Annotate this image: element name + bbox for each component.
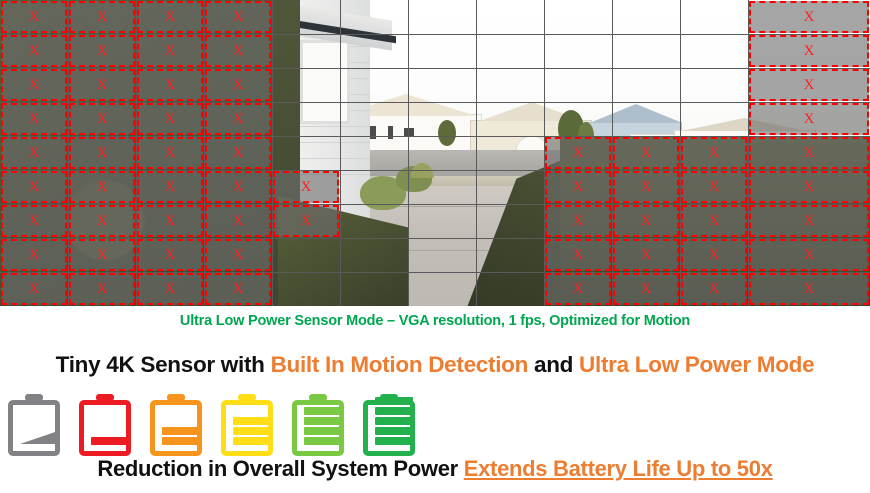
motion-detect-cell: X: [205, 239, 271, 271]
motion-detect-cell: X: [749, 273, 869, 305]
bottom-part-2-highlight: Extends Battery Life Up to 50x: [464, 456, 773, 481]
battery-empty-icon: [8, 394, 60, 456]
motion-detect-cell: X: [69, 171, 135, 203]
motion-detect-cell: X: [137, 35, 203, 67]
motion-detect-cell: X: [545, 273, 611, 305]
motion-detect-cell: X: [273, 171, 339, 203]
motion-detect-cell: X: [137, 239, 203, 271]
headline: Tiny 4K Sensor with Built In Motion Dete…: [0, 352, 870, 378]
battery-level-bar: [304, 427, 342, 435]
motion-detect-cell: X: [749, 137, 869, 169]
battery-medium-icon: [221, 394, 273, 456]
motion-detect-cell: X: [613, 239, 679, 271]
motion-detect-cell: X: [545, 171, 611, 203]
motion-detect-cell: X: [1, 1, 67, 33]
sensor-mode-caption: Ultra Low Power Sensor Mode – VGA resolu…: [0, 313, 870, 329]
motion-detect-cell: X: [69, 273, 135, 305]
motion-detect-cell: X: [749, 103, 869, 135]
battery-full-icon: [363, 394, 415, 456]
motion-detect-cell: X: [273, 205, 339, 237]
battery-level-bar: [162, 437, 200, 445]
battery-body: [221, 400, 273, 456]
motion-detect-cell: X: [613, 137, 679, 169]
motion-detect-cell: X: [1, 171, 67, 203]
motion-detect-cell: X: [205, 273, 271, 305]
motion-detect-cell: X: [681, 205, 747, 237]
battery-body: [292, 400, 344, 456]
motion-detect-cell: X: [749, 69, 869, 101]
battery-critical-icon: [79, 394, 131, 456]
battery-level-bar: [375, 437, 413, 445]
bottom-part-1: Reduction in Overall System Power: [97, 456, 463, 481]
battery-level-bar: [304, 407, 342, 415]
motion-detect-cell: X: [545, 239, 611, 271]
battery-level-bar: [304, 417, 342, 425]
bottom-caption: Reduction in Overall System Power Extend…: [0, 456, 870, 482]
grid-line-vertical: [476, 0, 477, 306]
motion-detect-cell: X: [137, 205, 203, 237]
battery-level-bar: [375, 397, 413, 405]
motion-detect-cell: X: [1, 103, 67, 135]
battery-empty-wedge: [20, 431, 58, 444]
motion-detect-cell: X: [69, 35, 135, 67]
motion-detect-cell: X: [137, 171, 203, 203]
motion-detect-cell: X: [137, 103, 203, 135]
motion-detect-cell: X: [1, 137, 67, 169]
headline-part-2-highlight: Built In Motion Detection: [271, 352, 528, 377]
motion-detect-cell: X: [681, 239, 747, 271]
camera-scene: XXXXXXXXXXXXXXXXXXXXXXXXXXXXXXXXXXXXXXXX…: [0, 0, 870, 306]
motion-grid-overlay: XXXXXXXXXXXXXXXXXXXXXXXXXXXXXXXXXXXXXXXX…: [0, 0, 870, 306]
battery-row: [8, 394, 428, 456]
motion-detect-cell: X: [205, 1, 271, 33]
battery-level-bar: [375, 417, 413, 425]
motion-detect-cell: X: [205, 137, 271, 169]
battery-level-bar: [233, 417, 271, 425]
headline-part-4-highlight: Ultra Low Power Mode: [579, 352, 814, 377]
battery-body: [363, 400, 415, 456]
battery-level-bar: [233, 437, 271, 445]
motion-detect-cell: X: [1, 35, 67, 67]
motion-detect-cell: X: [69, 137, 135, 169]
grid-line-vertical: [340, 0, 341, 306]
motion-detect-cell: X: [1, 273, 67, 305]
battery-level-bar: [375, 427, 413, 435]
motion-detect-cell: X: [137, 273, 203, 305]
motion-detect-cell: X: [749, 239, 869, 271]
motion-detect-cell: X: [545, 205, 611, 237]
motion-detect-cell: X: [69, 103, 135, 135]
motion-detect-cell: X: [69, 205, 135, 237]
motion-detect-cell: X: [749, 35, 869, 67]
grid-line-vertical: [408, 0, 409, 306]
battery-level-bar: [91, 437, 129, 445]
motion-detect-cell: X: [205, 35, 271, 67]
motion-detect-cell: X: [1, 69, 67, 101]
battery-level-bar: [375, 407, 413, 415]
motion-detect-cell: X: [137, 1, 203, 33]
battery-level-bar: [233, 427, 271, 435]
motion-detect-cell: X: [749, 171, 869, 203]
motion-detect-cell: X: [137, 137, 203, 169]
sensor-mode-text: Ultra Low Power Sensor Mode – VGA resolu…: [180, 313, 690, 329]
battery-body: [79, 400, 131, 456]
battery-high-icon: [292, 394, 344, 456]
motion-detect-cell: X: [613, 273, 679, 305]
motion-detect-cell: X: [613, 171, 679, 203]
motion-detect-cell: X: [137, 69, 203, 101]
motion-detect-cell: X: [205, 171, 271, 203]
battery-body: [8, 400, 60, 456]
motion-detect-cell: X: [681, 273, 747, 305]
battery-level-bar: [304, 437, 342, 445]
slide-root: XXXXXXXXXXXXXXXXXXXXXXXXXXXXXXXXXXXXXXXX…: [0, 0, 870, 493]
headline-part-3: and: [528, 352, 579, 377]
battery-low-icon: [150, 394, 202, 456]
motion-detect-cell: X: [681, 171, 747, 203]
motion-detect-cell: X: [681, 137, 747, 169]
motion-detect-cell: X: [749, 1, 869, 33]
motion-detect-cell: X: [69, 239, 135, 271]
motion-detect-cell: X: [205, 205, 271, 237]
motion-detect-cell: X: [205, 103, 271, 135]
motion-detect-cell: X: [1, 239, 67, 271]
battery-body: [150, 400, 202, 456]
motion-detect-cell: X: [205, 69, 271, 101]
motion-detect-cell: X: [69, 1, 135, 33]
grid-line-vertical: [272, 0, 273, 306]
motion-detect-cell: X: [749, 205, 869, 237]
headline-part-1: Tiny 4K Sensor with: [56, 352, 271, 377]
motion-detect-cell: X: [545, 137, 611, 169]
motion-detect-cell: X: [613, 205, 679, 237]
battery-level-bar: [162, 427, 200, 435]
motion-detect-cell: X: [1, 205, 67, 237]
motion-detect-cell: X: [69, 69, 135, 101]
